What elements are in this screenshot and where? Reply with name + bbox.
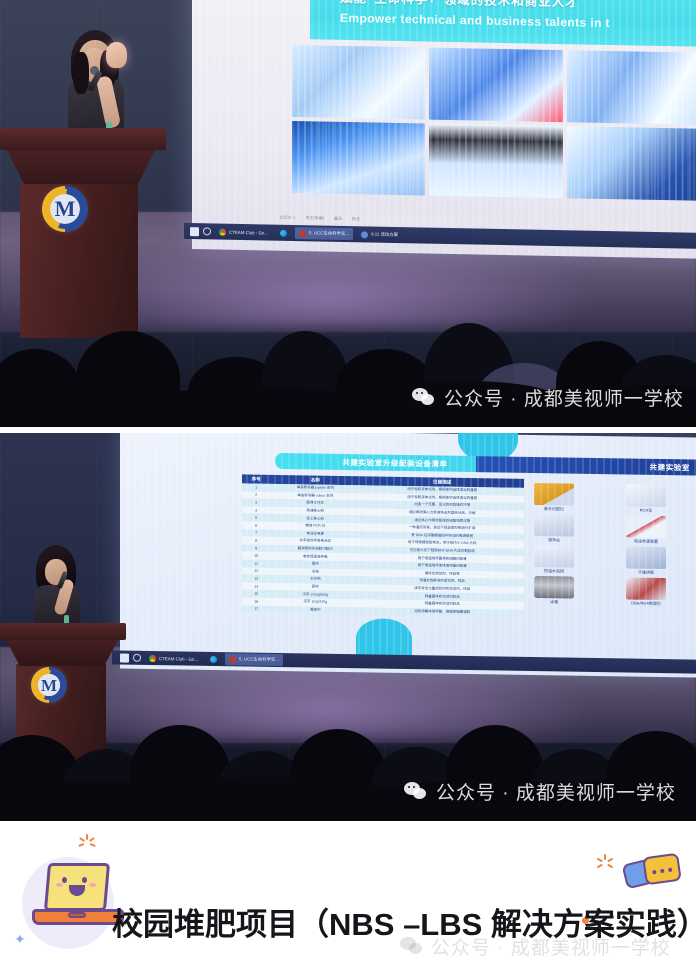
table-header-name: 名称 [270,476,360,483]
taskbar-item-file[interactable]: 9.11 活动方案 [357,228,402,241]
photo-bottom: 共建实验室升级配装设备清单 共建实验室 序号 名称 仪器描述 1单道移液器 pi… [0,433,696,821]
speaker-raised-hand [106,42,127,68]
cell-no: 6 [242,523,270,527]
taskbar-label-word: 5. UCC生命科学实... [309,230,349,237]
equipment-item: PCR仪 [604,484,688,514]
sparkle-icon [80,837,94,851]
plus-decor-icon: ✦ [14,931,26,948]
equipment-item: 紫外切胶仪 [512,483,596,513]
drying-oven-icon [626,546,666,569]
cell-name: 电热恒温培养箱 [270,553,360,559]
taskbar-label-chrome: CTEAM Club - Go... [229,229,268,235]
eye-left [62,877,67,883]
blush-left [56,883,63,887]
equipment-caption: 电泳电源装置 [634,539,658,545]
equipment-item: 恒温水浴锅 [512,545,596,575]
slide-photo-grid [288,45,696,201]
refrigerator-icon [534,576,574,599]
uv-gel-cutter-icon [534,483,574,506]
watermark-bottom: 公众号 · 成都美视师一学校 [404,778,676,805]
speaker-bottom [28,545,98,625]
podium-desktop [0,623,126,640]
equipment-item: DNA/RNA制胶仪 [604,577,688,607]
photo-top: 赋能“生命科学+”领域的技术和商业人才 Empower technical an… [0,0,696,427]
slide-photo-microscope-work [429,48,562,123]
cell-no: 14 [242,584,270,588]
cell-no: 1 [242,485,270,489]
eye-right [82,877,87,883]
equipment-item: 电泳电源装置 [604,515,688,545]
cell-name: 天平 0.01g/500g [270,591,360,597]
table-body: 1单道移液器 pipette 系列用于吸取液体试剂，根据体积选择适当的量程2单道… [242,483,524,617]
edge-icon [280,229,287,236]
cell-name: 研钵 [270,584,360,590]
cell-name: 单道移液器 pipette 系列 [270,485,360,491]
taskbar-item-word[interactable]: 5. UCC生命科学实... [295,227,353,240]
word-icon [229,656,236,663]
audience-shoulders [0,383,170,427]
equipment-caption: 干燥烘箱 [638,570,654,576]
cell-no: 16 [242,599,270,603]
cell-no: 11 [242,561,270,565]
cell-no: 9 [242,546,270,550]
cell-no: 7 [242,531,270,535]
status-slide-number: 幻灯片 1 [280,215,295,221]
cell-no: 10 [242,554,270,558]
laptop-face [56,877,98,899]
taskbar-item-edge[interactable] [276,227,291,239]
watermark-text: 公众号 · 成都美视师一学校 [436,778,676,805]
podium-desktop [0,128,166,150]
cell-no: 3 [242,500,270,504]
status-comments: 批注 [352,216,360,222]
word-icon [299,230,306,237]
slide-photo-exhibition-hall [292,121,425,196]
cell-no: 2 [242,493,270,497]
projection-screen-top: 赋能“生命科学+”领域的技术和商业人才 Empower technical an… [192,0,696,259]
projection-screen-bottom: 共建实验室升级配装设备清单 共建实验室 序号 名称 仪器描述 1单道移液器 pi… [120,433,696,678]
slide-blue-banner: 共建实验室 [476,456,696,475]
electrophoresis-power-icon [626,515,666,538]
audience-shoulders [150,387,360,427]
audience-shoulders [160,777,390,821]
cell-name: 梯度 PCR 仪 [270,523,360,529]
cell-name: 摇床 [270,561,360,567]
equipment-table: 序号 名称 仪器描述 1单道移液器 pipette 系列用于吸取液体试剂，根据体… [242,474,524,617]
slide-blue-banner-text: 共建实验室 [650,461,691,473]
sparkle-icon [598,857,612,871]
equipment-caption: 紫外切胶仪 [544,506,564,512]
equipment-item: 冰箱 [512,576,596,606]
equipment-caption: PCR仪 [640,508,652,514]
gel-caster-icon [626,577,666,600]
cell-no: 4 [242,508,270,512]
cell-name: 水浴锅 [270,576,360,582]
taskbar-item-word[interactable]: 5. UCC生命科学实... [225,653,283,666]
podium-mid [6,148,156,184]
search-icon[interactable] [203,227,211,235]
watermark-top: 公众号 · 成都美视师一学校 [412,384,684,411]
clean-bench-icon [534,514,574,537]
cell-no: 15 [242,592,270,596]
taskbar-label-word: 5. UCC生命科学实... [239,656,279,663]
windows-start-icon[interactable] [190,227,199,236]
equipment-caption: 恒温水浴锅 [544,568,564,574]
cell-name: 超薄型紫外凝胶切胶仪 [270,546,360,552]
laptop-trackpad [68,912,86,918]
bubble-yellow [642,853,682,886]
taskbar-item-edge[interactable] [206,653,221,665]
speaker-top [54,30,146,135]
section-banner: ✦ 公众号 · 成都美视师一学校 校园堆肥项目（NBS –LBS 解决方案实践） [0,821,696,967]
school-crest-icon: M [42,186,88,232]
cell-name: 超净工作台 [270,500,360,506]
equipment-image-grid: 紫外切胶仪PCR仪超净台电泳电源装置恒温水浴锅干燥烘箱冰箱DNA/RNA制胶仪 [512,483,688,608]
slide-table-title-text: 共建实验室升级配装设备清单 [342,456,447,469]
cell-no: 8 [242,538,270,542]
water-bath-icon [534,545,574,568]
wechat-icon [404,782,427,801]
status-notes: 备注 [334,216,342,222]
taskbar-label-file: 9.11 活动方案 [371,232,398,239]
equipment-caption: 冰箱 [550,599,558,605]
blush-right [89,883,96,887]
equipment-item: 超净台 [512,514,596,544]
cell-name: 冰箱 [270,569,360,575]
slide-decor-blob [356,618,412,659]
taskbar-item-chrome[interactable]: CTEAM Club - Go... [145,652,202,665]
search-icon[interactable] [133,654,141,662]
cell-name: 电泳仪电源 [270,531,360,537]
banner-title: 校园堆肥项目（NBS –LBS 解决方案实践） [112,899,696,944]
edge-icon [210,655,217,662]
cell-name: 单道移液器 colour 系列 [270,493,360,499]
wechat-icon [412,388,435,407]
equipment-caption: DNA/RNA制胶仪 [631,601,661,607]
cell-no: 13 [242,576,270,580]
slide-photo-lecture-room [429,124,562,199]
podium-mid [5,638,119,666]
taskbar-item-chrome[interactable]: CTEAM Club - Go... [215,226,272,239]
cell-name: 天平 1mg/220g [270,599,360,605]
crest-monogram: M [42,186,88,232]
cell-no: 12 [242,569,270,573]
file-icon [361,231,368,238]
slide-photo-lab-coats-group [567,50,696,125]
audience-shoulders [0,781,180,821]
chrome-icon [219,228,226,235]
smile-icon [69,885,85,896]
equipment-item: 干燥烘箱 [604,546,688,576]
speaker-hair-left [73,52,89,94]
slide-photo-equipment-demo [567,126,696,201]
cell-no: 17 [242,607,270,611]
cell-name: 掌上离心机 [270,516,360,522]
watermark-text: 公众号 · 成都美视师一学校 [444,384,684,411]
cell-no: 5 [242,516,270,520]
chrome-icon [149,654,156,661]
cell-name: 水平迷你平板电泳仪 [270,538,360,544]
table-header-no: 序号 [242,476,270,482]
taskbar-label-chrome: CTEAM Club - Go... [159,656,198,662]
cell-name: 高速离心机 [270,508,360,514]
article-image-stack: 赋能“生命科学+”领域的技术和商业人才 Empower technical an… [0,0,696,967]
equipment-caption: 超净台 [548,537,560,543]
cell-desc: 加热溶解体培养基、溶解琼脂糖凝胶 [360,608,524,616]
slide-photo-lab-students [292,45,425,120]
pcr-machine-icon [626,484,666,507]
status-language: 中文(中国) [305,215,324,221]
chat-bubbles-icon [624,851,686,901]
cell-name: 微波炉 [270,607,360,613]
